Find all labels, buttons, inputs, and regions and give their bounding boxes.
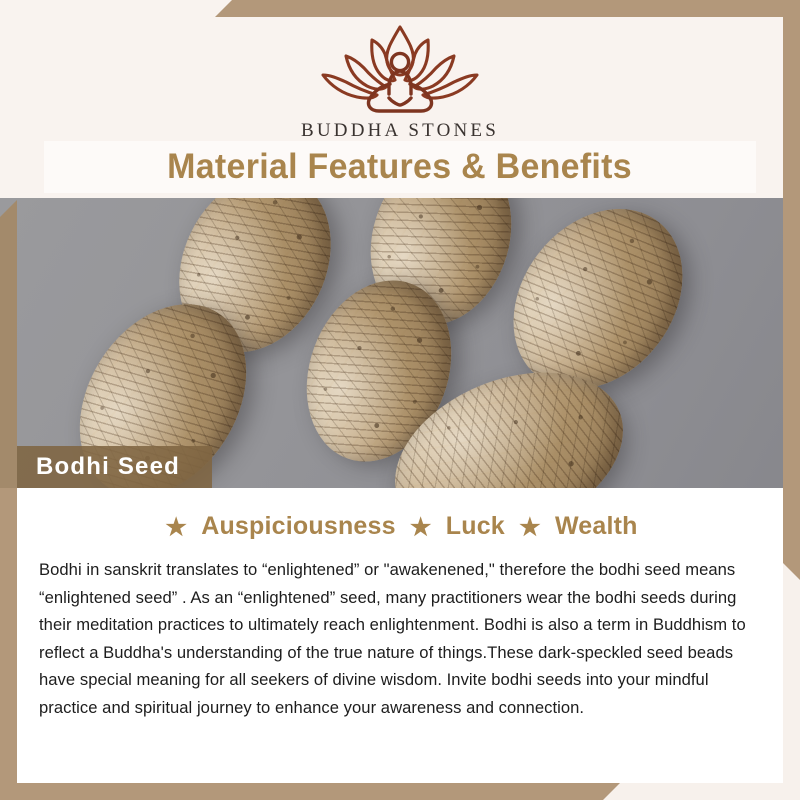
frame-bottom-left (0, 783, 620, 800)
frame-right (783, 0, 800, 580)
content-section: ★ Auspiciousness ★ Luck ★ Wealth Bodhi i… (17, 488, 783, 783)
title-band: Material Features & Benefits (44, 141, 756, 193)
page-title: Material Features & Benefits (168, 147, 633, 187)
lotus-meditation-figure-icon (311, 18, 489, 116)
star-icon: ★ (405, 514, 437, 541)
benefit-wealth: Wealth (553, 512, 640, 540)
product-photo (0, 198, 800, 488)
star-icon: ★ (514, 514, 546, 541)
benefit-luck: Luck (444, 512, 507, 540)
product-infographic: BUDDHA STONES Material Features & Benefi… (0, 0, 800, 800)
star-icon: ★ (160, 514, 192, 541)
description-paragraph: Bodhi in sanskrit translates to “enlight… (39, 556, 762, 721)
product-name-banner: Bodhi Seed (0, 446, 212, 488)
benefit-auspiciousness: Auspiciousness (199, 512, 398, 540)
brand-logo: BUDDHA STONES (0, 18, 800, 142)
brand-name: BUDDHA STONES (0, 120, 800, 142)
benefits-headline: ★ Auspiciousness ★ Luck ★ Wealth (17, 512, 783, 542)
frame-top-right (215, 0, 800, 17)
frame-left-lower (0, 488, 17, 800)
product-name-label: Bodhi Seed (0, 453, 180, 481)
